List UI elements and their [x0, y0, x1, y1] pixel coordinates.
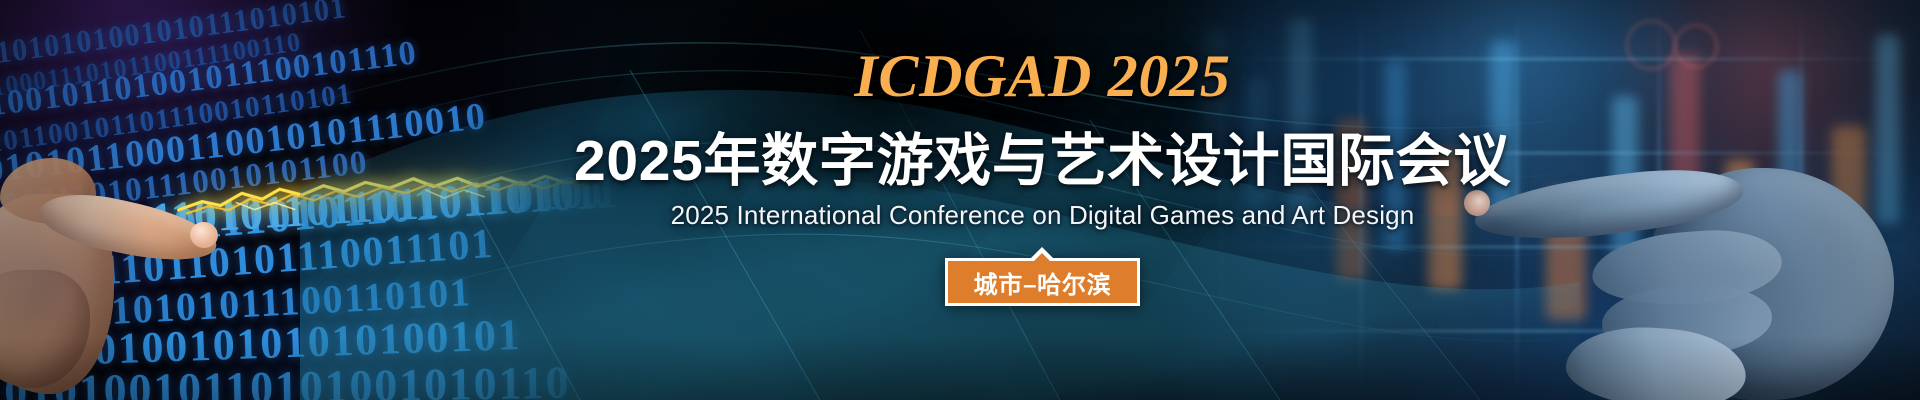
conference-acronym-title: ICDGAD 2025 [0, 46, 1920, 106]
city-badge-container: 城市–哈尔滨 [0, 258, 1920, 306]
city-badge[interactable]: 城市–哈尔滨 [945, 258, 1141, 306]
city-badge-label: 城市–哈尔滨 [974, 265, 1112, 300]
conference-banner: 01010101010101001010111010101 1110110010… [0, 0, 1920, 400]
badge-notch-inner [1033, 253, 1051, 262]
conference-title-chinese: 2025年数字游戏与艺术设计国际会议 [0, 132, 1920, 192]
conference-title-english: 2025 International Conference on Digital… [0, 200, 1920, 231]
